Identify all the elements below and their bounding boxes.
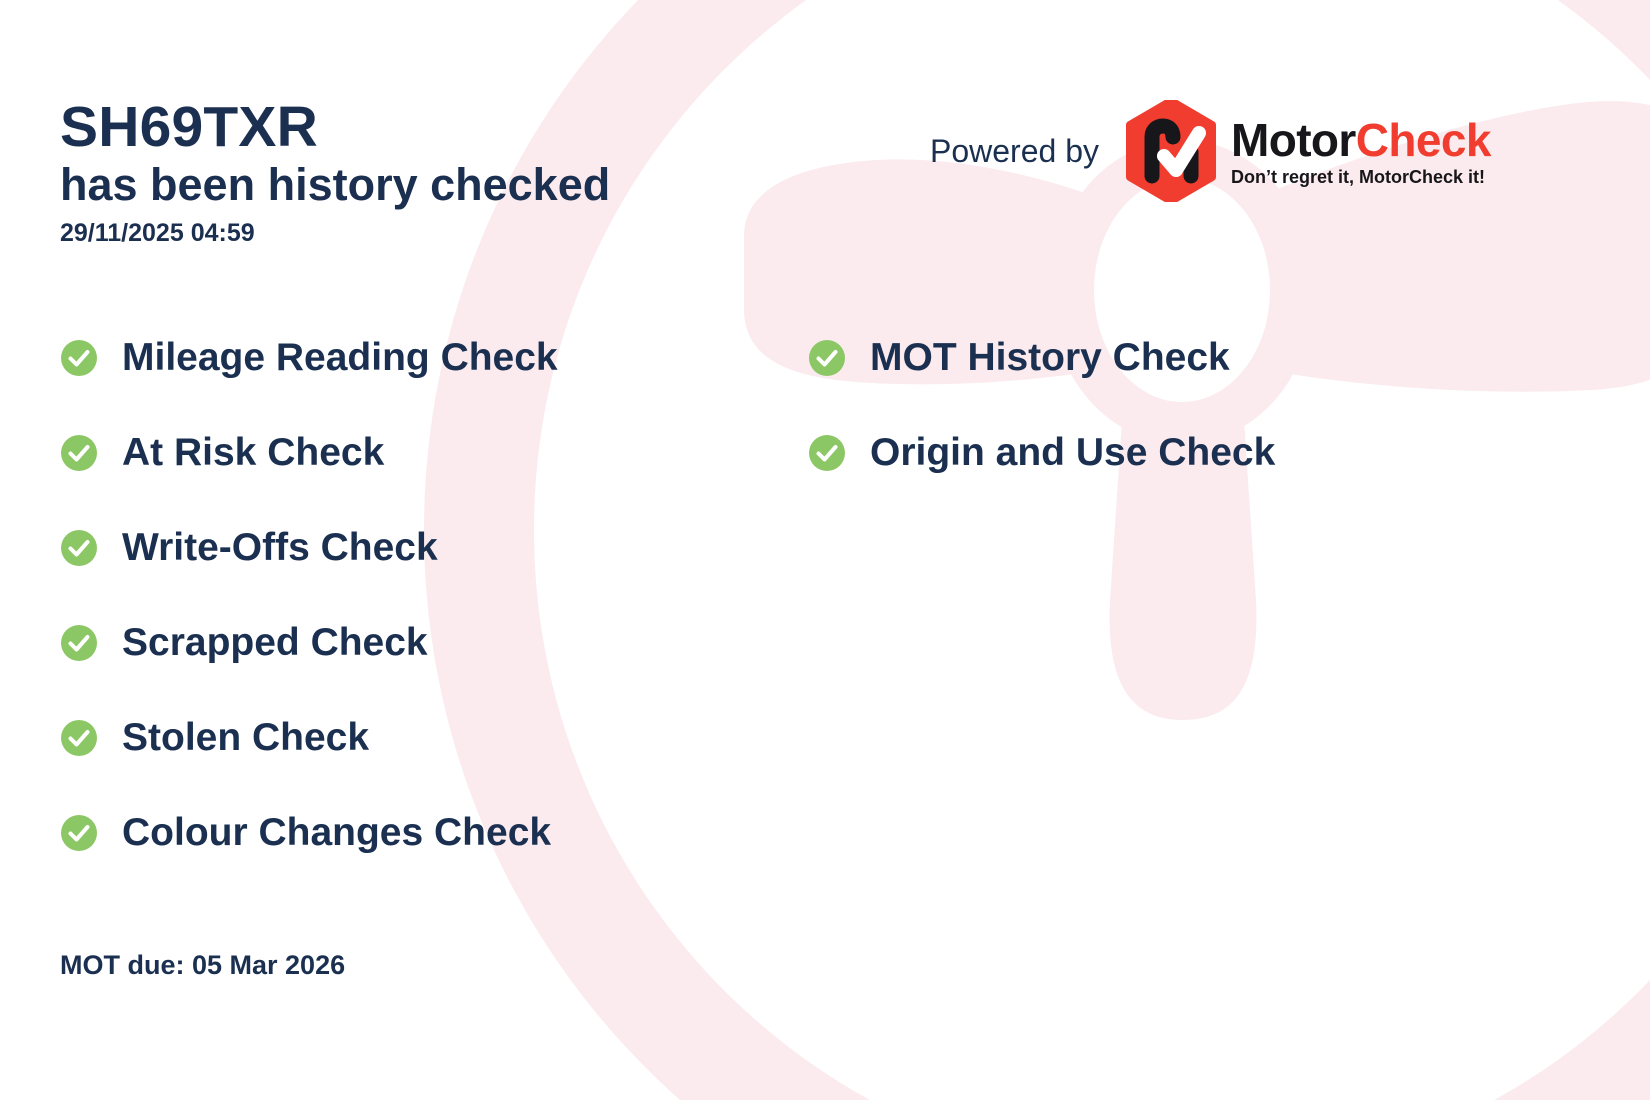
motorcheck-tagline: Don’t regret it, MotorCheck it! — [1231, 168, 1491, 186]
check-timestamp: 29/11/2025 04:59 — [60, 219, 820, 248]
motorcheck-wordmark-wrap: MotorCheck Don’t regret it, MotorCheck i… — [1231, 117, 1491, 186]
check-label: Scrapped Check — [122, 623, 428, 662]
card-content: SH69TXR has been history checked 29/11/2… — [0, 0, 1650, 1100]
mot-due-text: MOT due: 05 Mar 2026 — [60, 950, 345, 981]
share-card: SH69TXR has been history checked 29/11/2… — [0, 0, 1650, 1100]
green-check-circle-icon — [60, 434, 98, 472]
check-item-write-offs: Write-Offs Check — [60, 500, 780, 595]
motorcheck-logo[interactable]: MotorCheck Don’t regret it, MotorCheck i… — [1125, 100, 1491, 202]
check-item-stolen: Stolen Check — [60, 690, 780, 785]
check-label: Colour Changes Check — [122, 813, 551, 852]
green-check-circle-icon — [60, 339, 98, 377]
checks-right-column: MOT History Check Origin and Use Check — [808, 310, 1508, 500]
check-label: Stolen Check — [122, 718, 369, 757]
check-item-origin-and-use: Origin and Use Check — [808, 405, 1508, 500]
motorcheck-wordmark: MotorCheck — [1231, 117, 1491, 163]
page-subtitle: has been history checked — [60, 160, 820, 210]
check-item-mileage-reading: Mileage Reading Check — [60, 310, 780, 405]
check-item-mot-history: MOT History Check — [808, 310, 1508, 405]
powered-by-block: Powered by MotorCheck Don’t regret — [930, 100, 1491, 202]
check-label: MOT History Check — [870, 338, 1230, 377]
check-label: Origin and Use Check — [870, 433, 1275, 472]
checks-left-column: Mileage Reading Check At Risk Check Writ… — [60, 310, 780, 880]
green-check-circle-icon — [60, 719, 98, 757]
check-item-scrapped: Scrapped Check — [60, 595, 780, 690]
green-check-circle-icon — [808, 434, 846, 472]
green-check-circle-icon — [808, 339, 846, 377]
wordmark-motor: Motor — [1231, 114, 1356, 166]
check-label: At Risk Check — [122, 433, 384, 472]
motorcheck-hexagon-m-check-icon — [1125, 100, 1217, 202]
check-item-colour-changes: Colour Changes Check — [60, 785, 780, 880]
heading-block: SH69TXR has been history checked 29/11/2… — [60, 98, 820, 248]
green-check-circle-icon — [60, 529, 98, 567]
powered-by-label: Powered by — [930, 133, 1099, 170]
wordmark-check: Check — [1356, 114, 1491, 166]
check-label: Mileage Reading Check — [122, 338, 558, 377]
green-check-circle-icon — [60, 624, 98, 662]
page-title-plate-number: SH69TXR — [60, 98, 820, 156]
check-item-at-risk: At Risk Check — [60, 405, 780, 500]
green-check-circle-icon — [60, 814, 98, 852]
check-label: Write-Offs Check — [122, 528, 438, 567]
